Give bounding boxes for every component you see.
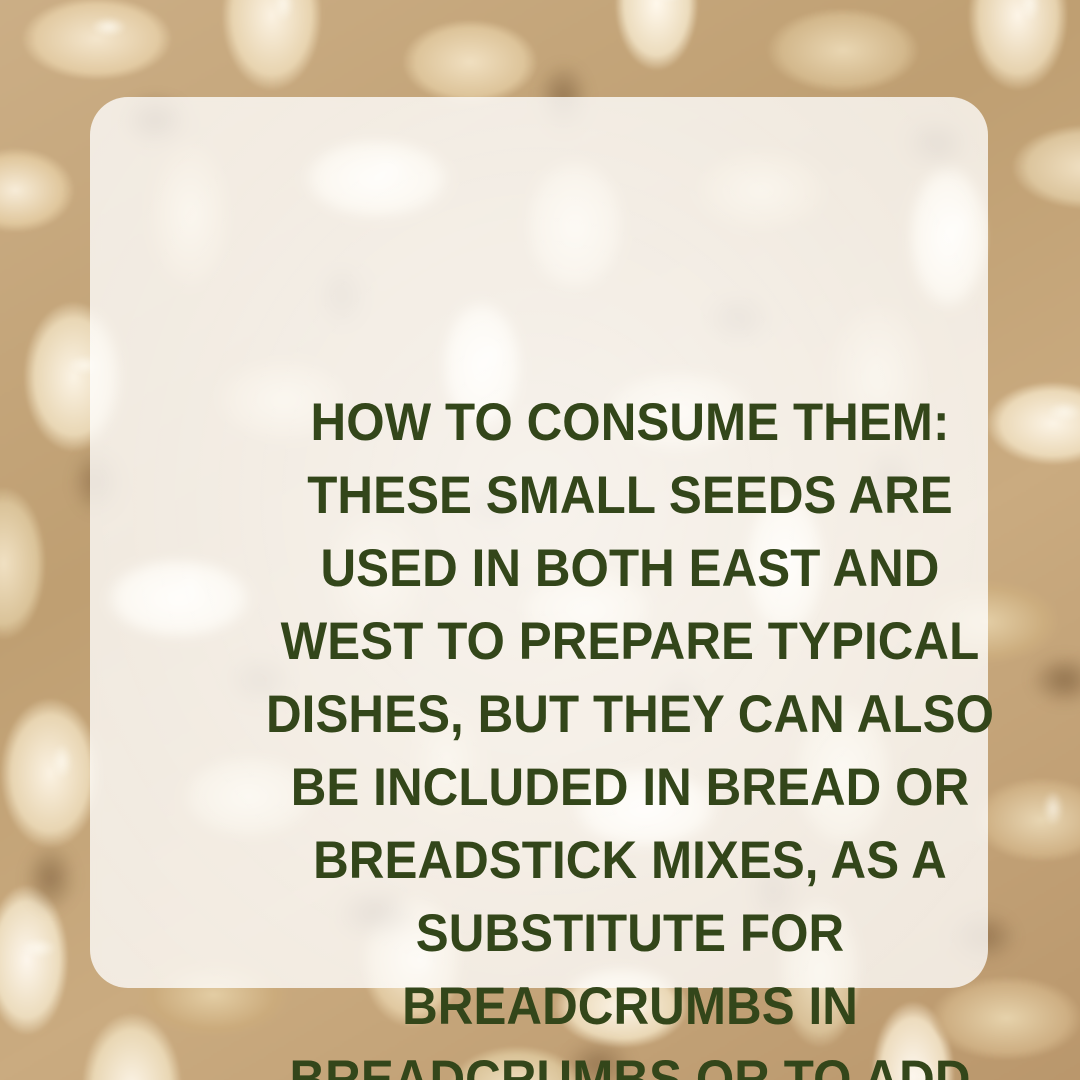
info-card-graphic: HOW TO CONSUME THEM: THESE SMALL SEEDS A… [0, 0, 1080, 1080]
card-heading-phrase: HOW TO CONSUME THEM: [311, 393, 950, 452]
translucent-text-card: HOW TO CONSUME THEM: THESE SMALL SEEDS A… [90, 97, 988, 988]
card-body-remainder: THESE SMALL SEEDS ARE USED IN BOTH EAST … [266, 393, 1008, 1080]
card-body-text: HOW TO CONSUME THEM: THESE SMALL SEEDS A… [258, 386, 1002, 1080]
